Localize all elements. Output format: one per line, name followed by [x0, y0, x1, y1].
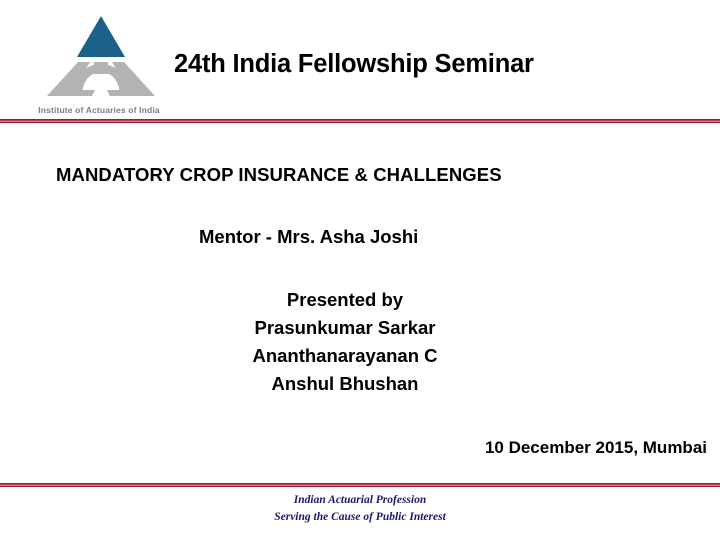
presenter-name: Ananthanarayanan C	[145, 342, 545, 370]
presenter-name: Prasunkumar Sarkar	[145, 314, 545, 342]
footer-block: Indian Actuarial Profession Serving the …	[0, 492, 720, 526]
presentation-slide: Institute of Actuaries of India 24th Ind…	[0, 0, 720, 540]
seminar-title: 24th India Fellowship Seminar	[174, 50, 534, 79]
presenter-name: Anshul Bhushan	[145, 370, 545, 398]
presented-by-label: Presented by	[145, 286, 545, 314]
logo-block: Institute of Actuaries of India	[28, 12, 170, 118]
footer-line-1: Indian Actuarial Profession	[0, 492, 720, 509]
event-date-venue: 10 December 2015, Mumbai	[0, 438, 707, 458]
logo-caption: Institute of Actuaries of India	[28, 105, 170, 115]
footer-divider	[0, 483, 720, 487]
institute-of-actuaries-of-india-logo-icon	[45, 12, 157, 104]
header-divider	[0, 119, 720, 123]
presentation-topic: MANDATORY CROP INSURANCE & CHALLENGES	[56, 164, 502, 186]
presenter-block: Presented by Prasunkumar Sarkar Ananthan…	[145, 286, 545, 398]
mentor-line: Mentor - Mrs. Asha Joshi	[199, 226, 418, 248]
footer-line-2: Serving the Cause of Public Interest	[0, 509, 720, 526]
